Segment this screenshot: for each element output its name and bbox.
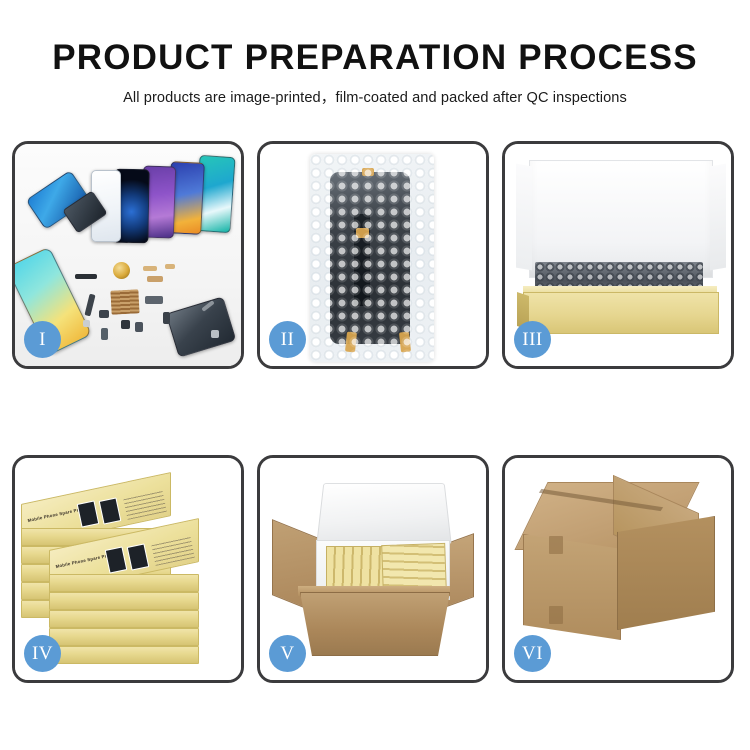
tape-strip bbox=[345, 332, 357, 353]
spare-part bbox=[147, 276, 163, 282]
box-layer bbox=[49, 646, 199, 664]
step-badge-2: II bbox=[269, 321, 306, 358]
box-layer bbox=[49, 628, 199, 646]
spare-part bbox=[145, 296, 163, 304]
step-card-3: III bbox=[502, 141, 734, 369]
carton-right-panel bbox=[617, 516, 715, 630]
step-badge-5: V bbox=[269, 635, 306, 672]
step-badge-3: III bbox=[514, 321, 551, 358]
product-preparation-infographic: PRODUCT PREPARATION PROCESS All products… bbox=[0, 0, 750, 750]
speaker-part bbox=[75, 274, 97, 279]
box-layer bbox=[49, 592, 199, 610]
carton-tape-upper bbox=[549, 536, 563, 554]
process-steps-grid: I II bbox=[12, 141, 738, 691]
spare-part bbox=[99, 310, 109, 318]
spare-part bbox=[101, 328, 108, 340]
spare-part bbox=[83, 320, 90, 327]
step-card-6: VI bbox=[502, 455, 734, 683]
phone-back-housing bbox=[166, 296, 237, 358]
step-card-5: V bbox=[257, 455, 489, 683]
box-front-panel bbox=[523, 292, 719, 334]
bubble-wrap-bag bbox=[310, 154, 434, 362]
box-layer bbox=[49, 610, 199, 628]
carton-tape-lower bbox=[549, 606, 563, 624]
step-badge-6: VI bbox=[514, 635, 551, 672]
step-badge-1: I bbox=[24, 321, 61, 358]
page-subtitle: All products are image-printed，film-coat… bbox=[0, 86, 750, 107]
tape-strip bbox=[399, 332, 411, 353]
carton-left-panel bbox=[523, 534, 621, 640]
wrapped-screen-assembly bbox=[330, 172, 410, 344]
step-card-4: Mobile Phone Spare Parts Mobile Phone Sp… bbox=[12, 455, 244, 683]
spare-part bbox=[143, 266, 157, 271]
tape-strip bbox=[356, 228, 369, 238]
spare-part bbox=[163, 312, 170, 324]
spare-part bbox=[135, 322, 143, 332]
spare-part bbox=[121, 320, 130, 329]
logic-board-part bbox=[110, 289, 139, 314]
page-title: PRODUCT PREPARATION PROCESS bbox=[0, 40, 750, 77]
foam-lid bbox=[316, 483, 451, 544]
header: PRODUCT PREPARATION PROCESS All products… bbox=[0, 40, 750, 107]
box-lid-open bbox=[529, 160, 713, 278]
spare-part bbox=[165, 264, 175, 269]
step-card-1: I bbox=[12, 141, 244, 369]
tape-strip bbox=[362, 168, 374, 176]
step-card-2: II bbox=[257, 141, 489, 369]
vibration-motor-part bbox=[113, 262, 130, 279]
box-layer bbox=[49, 574, 199, 592]
step-badge-4: IV bbox=[24, 635, 61, 672]
carton-front-panel bbox=[300, 592, 450, 656]
spare-part bbox=[84, 294, 95, 317]
spare-part bbox=[211, 330, 219, 338]
